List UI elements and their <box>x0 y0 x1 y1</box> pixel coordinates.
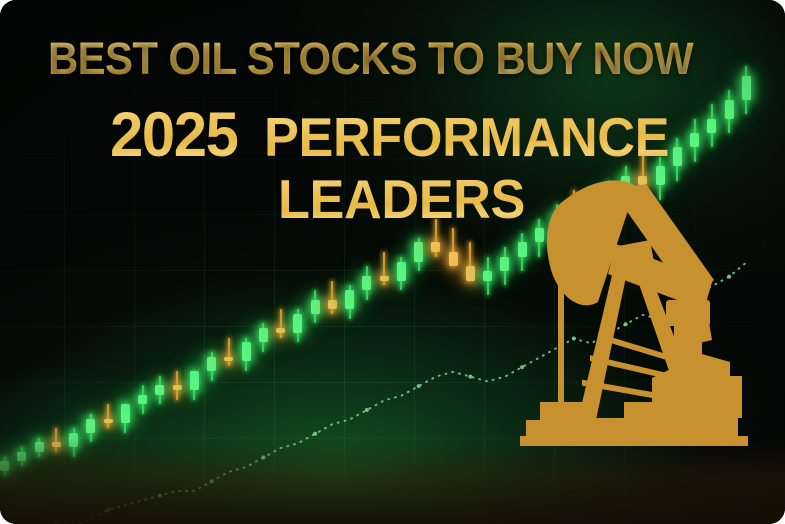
oil-pump-jack-icon <box>516 162 766 454</box>
candlestick-body <box>155 385 164 395</box>
candlestick-body <box>311 300 320 314</box>
candlestick <box>397 257 406 290</box>
candlestick <box>380 252 389 285</box>
candlestick <box>207 352 216 381</box>
headline-performance-word: PERFORMANCE <box>264 110 669 165</box>
candlestick-body <box>138 395 147 405</box>
candlestick-body <box>328 300 337 310</box>
candlestick-body <box>190 371 199 390</box>
headline-year: 2025 <box>110 104 237 167</box>
candlestick <box>224 338 233 367</box>
candlestick-body <box>362 276 371 290</box>
candlestick-wick <box>228 338 230 367</box>
headline-line-2: 2025 PERFORMANCE <box>110 104 691 167</box>
candlestick <box>345 285 354 318</box>
candlestick <box>725 90 734 133</box>
candlestick <box>328 281 337 314</box>
candlestick <box>190 371 199 400</box>
candlestick-body <box>449 252 458 266</box>
candlestick <box>173 371 182 400</box>
candlestick-body <box>431 242 440 252</box>
candlestick-body <box>707 119 716 133</box>
promo-banner: BEST OIL STOCKS TO BUY NOW 2025 PERFORMA… <box>0 0 785 524</box>
candlestick-body <box>397 262 406 281</box>
candlestick-body <box>690 133 699 147</box>
candlestick-body <box>380 276 389 281</box>
candlestick <box>155 376 164 405</box>
candlestick <box>690 119 699 162</box>
candlestick <box>104 404 113 428</box>
candlestick-body <box>742 76 751 100</box>
candlestick <box>311 290 320 323</box>
candlestick <box>138 385 147 414</box>
candlestick-wick <box>107 404 109 428</box>
candlestick-body <box>207 357 216 371</box>
candlestick-body <box>293 314 302 333</box>
candlestick-body <box>725 100 734 119</box>
candlestick-body <box>414 242 423 261</box>
headline-line-3: LEADERS <box>278 172 525 227</box>
candlestick-body <box>466 266 475 280</box>
candlestick-body <box>483 271 492 281</box>
candlestick-body <box>104 419 113 424</box>
candlestick <box>483 257 492 295</box>
candlestick <box>500 247 509 285</box>
candlestick <box>293 309 302 342</box>
candlestick <box>449 228 458 266</box>
candlestick-body <box>345 290 354 309</box>
candlestick <box>362 266 371 299</box>
headline-line-1: BEST OIL STOCKS TO BUY NOW <box>48 36 693 81</box>
candlestick <box>707 104 716 147</box>
candlestick <box>121 404 130 433</box>
candlestick <box>242 338 251 371</box>
candlestick <box>276 309 285 338</box>
candlestick <box>466 242 475 280</box>
candlestick <box>414 238 423 271</box>
candlestick-body <box>242 342 251 361</box>
candlestick-body <box>500 257 509 271</box>
candlestick <box>259 323 268 352</box>
candlestick-body <box>259 328 268 342</box>
candlestick-wick <box>280 309 282 338</box>
candlestick-body <box>86 419 95 433</box>
candlestick <box>742 66 751 114</box>
candlestick-body <box>224 357 233 362</box>
candlestick-body <box>276 328 285 333</box>
candlestick-body <box>173 385 182 390</box>
candlestick-body <box>121 404 130 423</box>
